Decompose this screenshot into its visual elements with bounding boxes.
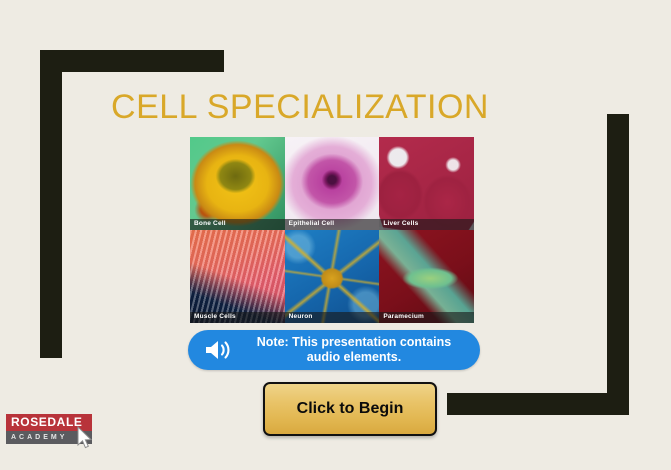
bone-cell-micrograph (190, 137, 285, 230)
epithelial-cell-micrograph (285, 137, 380, 230)
speaker-icon (200, 338, 238, 362)
corner-bracket-top-left-horizontal (40, 50, 224, 72)
gallery-item-label: Muscle Cells (190, 312, 285, 324)
audio-note-line2: audio elements. (307, 350, 401, 364)
corner-bracket-bottom-right-horizontal (447, 393, 629, 415)
page-title: CELL SPECIALIZATION (0, 88, 600, 127)
liver-cells-micrograph (379, 137, 474, 230)
gallery-item-label: Neuron (285, 312, 380, 324)
cell-image-gallery: Bone Cell Epithelial Cell Liver Cells Mu… (190, 137, 474, 323)
audio-note-text: Note: This presentation contains audio e… (238, 335, 480, 366)
gallery-item: Paramecium (379, 230, 474, 323)
gallery-item: Liver Cells (379, 137, 474, 230)
gallery-item-label: Bone Cell (190, 219, 285, 231)
muscle-cells-micrograph (190, 230, 285, 323)
mouse-pointer-icon (76, 426, 94, 450)
corner-bracket-bottom-right-vertical (607, 114, 629, 415)
rosedale-academy-logo: ROSEDALE ACADEMY (6, 414, 92, 444)
audio-note-line1: Note: This presentation contains (257, 335, 451, 349)
paramecium-micrograph (379, 230, 474, 323)
gallery-item: Epithelial Cell (285, 137, 380, 230)
gallery-item: Muscle Cells (190, 230, 285, 323)
audio-note-banner: Note: This presentation contains audio e… (188, 330, 480, 370)
gallery-item-label: Paramecium (379, 312, 474, 324)
presentation-slide: CELL SPECIALIZATION Bone Cell Epithelial… (0, 0, 671, 470)
gallery-item-label: Liver Cells (379, 219, 474, 231)
gallery-item: Neuron (285, 230, 380, 323)
click-to-begin-button[interactable]: Click to Begin (263, 382, 437, 436)
neuron-micrograph (285, 230, 380, 323)
gallery-item: Bone Cell (190, 137, 285, 230)
gallery-item-label: Epithelial Cell (285, 219, 380, 231)
